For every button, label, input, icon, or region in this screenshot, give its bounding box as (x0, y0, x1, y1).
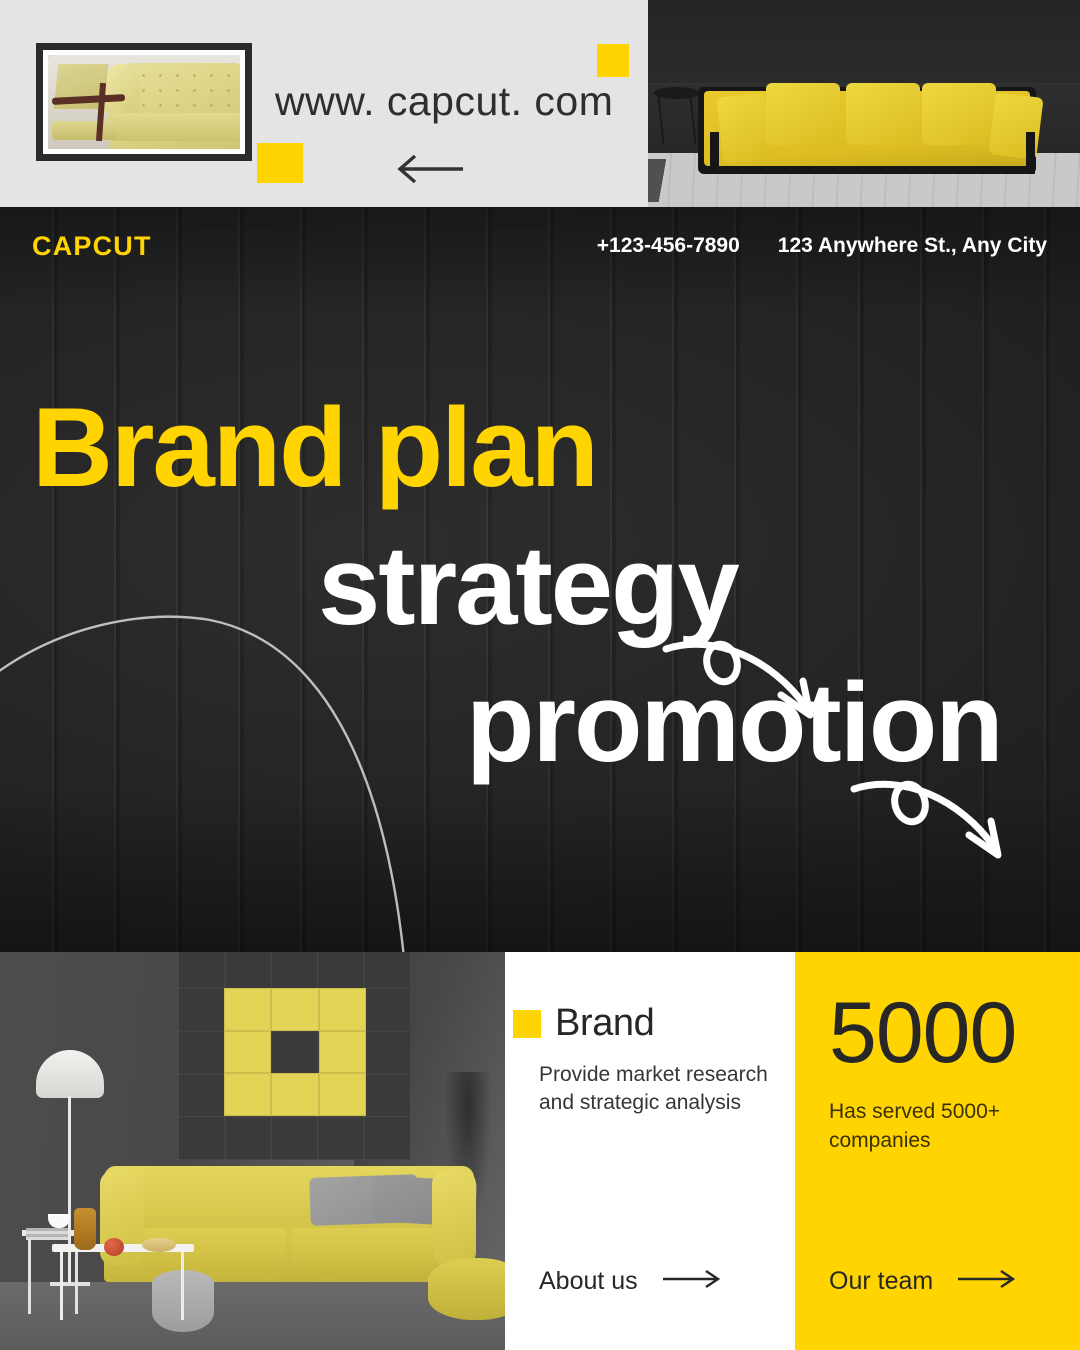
interior-yellow-ottoman (428, 1258, 505, 1320)
tile (224, 1031, 271, 1074)
arrow-left-icon[interactable] (393, 152, 467, 191)
photo-pillow-1 (717, 93, 772, 164)
interior-coffee-table-legs (60, 1252, 184, 1320)
photo-pillow-5 (988, 93, 1043, 160)
top-banner: www. capcut. com (0, 0, 1080, 207)
brand-card-title-row: Brand (539, 1002, 769, 1045)
photo-chair-seat (52, 121, 117, 140)
brand-card-title: Brand (555, 1002, 654, 1045)
photo-sofa-leg-left (710, 132, 719, 174)
interior-juice-jug (74, 1208, 96, 1250)
website-url[interactable]: www. capcut. com (275, 78, 613, 125)
interior-sofa-arm-right (432, 1170, 476, 1266)
tile (224, 1073, 271, 1116)
curved-arrow-icon-2 (848, 763, 1024, 874)
stat-caption: Has served 5000+ companies (829, 1098, 1049, 1155)
stat-card: 5000 Has served 5000+ companies Our team (795, 952, 1080, 1350)
poster-root: www. capcut. com (0, 0, 1080, 1350)
brand-card: Brand Provide market research and strate… (505, 952, 795, 1350)
accent-square-lower (257, 143, 303, 183)
tile (224, 988, 271, 1031)
arrow-right-icon (662, 1269, 724, 1294)
accent-square-upper (597, 44, 629, 77)
headline-line-1: Brand plan (32, 392, 597, 504)
interior-photo (0, 952, 505, 1350)
curved-arrow-icon-1 (660, 623, 836, 734)
hero-sofa-photo (648, 0, 1080, 207)
photo-sofa-arm (102, 64, 140, 113)
brand-card-accent-square (513, 1010, 541, 1038)
interior-books (26, 1228, 68, 1240)
photo-sofa-leg-right (1026, 132, 1035, 174)
interior-fruit-bowl (142, 1238, 176, 1252)
bottom-section: Brand Provide market research and strate… (0, 952, 1080, 1350)
arrow-right-icon (957, 1269, 1019, 1294)
tile (319, 988, 366, 1031)
tile (271, 1073, 318, 1116)
brand-card-description: Provide market research and strategic an… (539, 1061, 769, 1116)
photo-side-table-legs (657, 95, 696, 145)
hero-section: CAPCUT +123-456-7890 123 Anywhere St., A… (0, 207, 1080, 952)
interior-seat-cushion-right (292, 1228, 434, 1272)
tile-empty (271, 1031, 318, 1074)
photo-pillow-3 (846, 83, 920, 145)
about-us-label: About us (539, 1267, 638, 1296)
framed-photo (36, 43, 252, 161)
photo-pillow-4 (922, 83, 996, 145)
tile (319, 1031, 366, 1074)
interior-yellow-tiles (224, 988, 366, 1116)
interior-apple (104, 1238, 124, 1256)
about-us-button[interactable]: About us (539, 1267, 724, 1296)
photo-mat (43, 50, 245, 154)
tile (319, 1073, 366, 1116)
framed-photo-image (48, 55, 240, 149)
photo-pillow-2 (766, 83, 840, 145)
tile (271, 988, 318, 1031)
photo-sofa-seat (106, 113, 240, 141)
top-banner-left: www. capcut. com (0, 0, 648, 207)
stat-number: 5000 (829, 990, 1054, 1076)
our-team-label: Our team (829, 1267, 933, 1296)
our-team-button[interactable]: Our team (829, 1267, 1019, 1296)
